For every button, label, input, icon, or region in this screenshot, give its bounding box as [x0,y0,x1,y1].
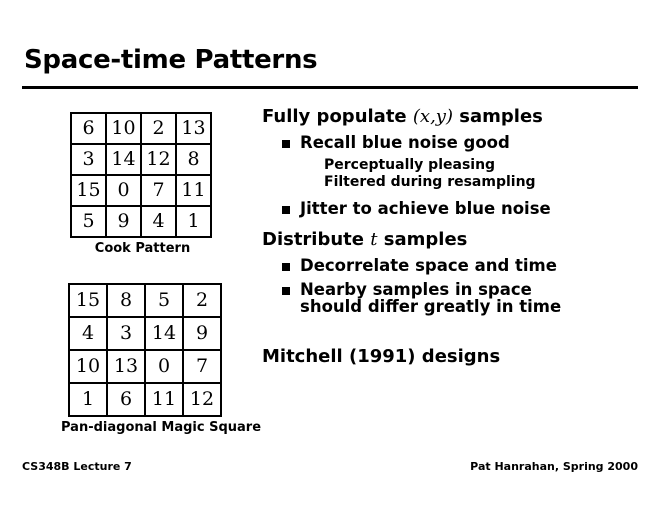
title-divider [22,86,638,89]
grid-cell: 11 [176,175,211,206]
table-row: 15 8 5 2 [69,284,221,317]
square-bullet-icon [282,206,290,214]
grid-cell: 14 [145,317,183,350]
grid-cell: 10 [69,350,107,383]
grid-cell: 15 [71,175,106,206]
grid-cell: 2 [141,113,176,144]
grid-cell: 2 [183,284,221,317]
grid-cell: 5 [145,284,183,317]
bullet-jitter-to-achieve: Jitter to achieve blue noise [262,200,658,218]
grid-cell: 6 [107,383,145,416]
bullet-label: Recall blue noise good [300,133,510,152]
grid-cell: 13 [176,113,211,144]
bullet-decorrelate-space-time: Decorrelate space and time [262,257,658,275]
grid-cell: 0 [145,350,183,383]
grid-cell: 12 [183,383,221,416]
subbullet-perceptually-pleasing: Perceptually pleasing [262,158,658,174]
spacer [262,322,658,348]
bullet-label-line2: should differ greatly in time [300,297,561,316]
grid-cell: 8 [176,144,211,175]
square-bullet-icon [282,263,290,271]
square-bullet-icon [282,140,290,148]
grid-cell: 10 [106,113,141,144]
table-row: 15 0 7 11 [71,175,211,206]
cook-pattern-figure: 6 10 2 13 3 14 12 8 15 0 7 11 5 9 4 1 [70,112,215,256]
grid-cell: 4 [69,317,107,350]
grid-cell: 11 [145,383,183,416]
grid-cell: 8 [107,284,145,317]
table-row: 4 3 14 9 [69,317,221,350]
heading-text-pre: Fully populate [262,106,413,127]
table-row: 6 10 2 13 [71,113,211,144]
heading-math-t: t [370,229,377,250]
heading-math-xy: (x,y) [413,106,453,127]
bullet-label-line1: Nearby samples in space [300,280,532,299]
grid-cell: 1 [176,206,211,237]
square-bullet-icon [282,287,290,295]
content-outline: Fully populate (x,y) samples Recall blue… [262,108,658,374]
heading-text-pre: Distribute [262,229,370,250]
magic-square-grid: 15 8 5 2 4 3 14 9 10 13 0 7 1 6 11 12 [68,283,222,417]
table-row: 1 6 11 12 [69,383,221,416]
grid-cell: 5 [71,206,106,237]
grid-cell: 3 [107,317,145,350]
grid-cell: 7 [183,350,221,383]
bullet-nearby-samples: Nearby samples in spaceshould differ gre… [262,281,658,317]
heading-text-post: samples [378,229,468,250]
grid-cell: 14 [106,144,141,175]
magic-square-figure: 15 8 5 2 4 3 14 9 10 13 0 7 1 6 11 12 [68,283,222,435]
grid-cell: 3 [71,144,106,175]
table-row: 10 13 0 7 [69,350,221,383]
grid-cell: 12 [141,144,176,175]
heading-text-post: samples [453,106,543,127]
page-title: Space-time Patterns [24,45,317,75]
grid-cell: 7 [141,175,176,206]
outline-heading-mitchell-designs: Mitchell (1991) designs [262,348,658,367]
magic-square-caption: Pan-diagonal Magic Square [61,420,217,435]
grid-cell: 13 [107,350,145,383]
grid-cell: 1 [69,383,107,416]
footer-author-label: Pat Hanrahan, Spring 2000 [470,460,638,473]
subbullet-filtered-during-resampling: Filtered during resampling [262,175,658,191]
cook-pattern-caption: Cook Pattern [70,241,215,256]
bullet-label: Decorrelate space and time [300,256,557,275]
grid-cell: 9 [183,317,221,350]
outline-heading-distribute-t: Distribute t samples [262,231,658,250]
grid-cell: 0 [106,175,141,206]
grid-cell: 6 [71,113,106,144]
bullet-recall-blue-noise: Recall blue noise good [262,134,658,152]
bullet-label: Jitter to achieve blue noise [300,199,551,218]
cook-pattern-grid: 6 10 2 13 3 14 12 8 15 0 7 11 5 9 4 1 [70,112,212,238]
grid-cell: 9 [106,206,141,237]
table-row: 3 14 12 8 [71,144,211,175]
outline-heading-fully-populate: Fully populate (x,y) samples [262,108,658,127]
grid-cell: 15 [69,284,107,317]
grid-cell: 4 [141,206,176,237]
footer-course-label: CS348B Lecture 7 [22,460,132,473]
table-row: 5 9 4 1 [71,206,211,237]
